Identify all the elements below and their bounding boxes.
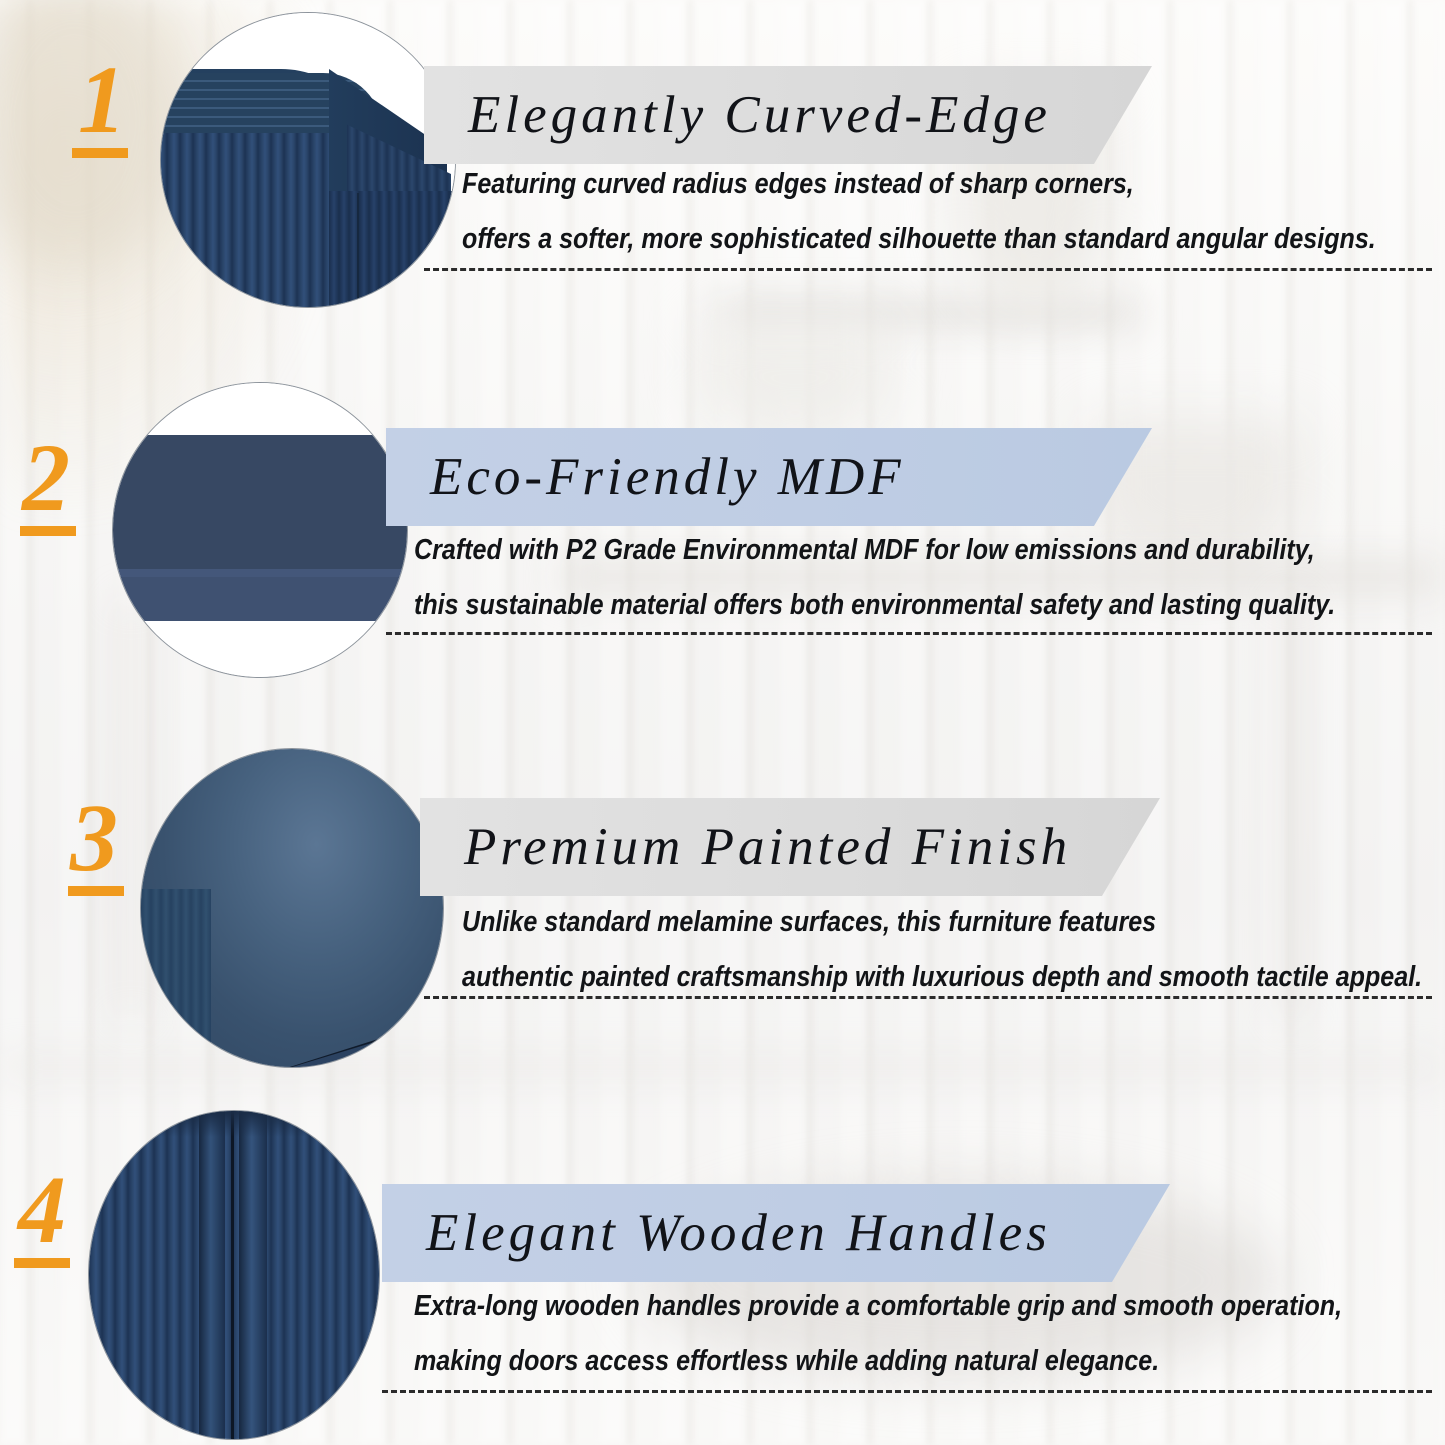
- feature-divider-2: [386, 632, 1432, 635]
- feature-section-2: 2 Eco-Friendly MDF Crafted with P2 Grade…: [0, 368, 1445, 728]
- feature-title-3: Premium Painted Finish: [464, 817, 1071, 877]
- feature-number-underline-3: [68, 886, 124, 896]
- feature-title-4: Elegant Wooden Handles: [426, 1203, 1051, 1263]
- feature-section-4: 4 Elegant Wooden Handles Extra-long wood…: [0, 1102, 1445, 1445]
- feature-divider-4: [382, 1390, 1432, 1393]
- feature-body-2: Crafted with P2 Grade Environmental MDF …: [414, 534, 1335, 644]
- feature-number-1: 1: [78, 52, 126, 148]
- feature-body-line: Crafted with P2 Grade Environmental MDF …: [414, 534, 1335, 567]
- feature-body-line: Featuring curved radius edges instead of…: [462, 168, 1376, 201]
- feature-body-line: making doors access effortless while add…: [414, 1345, 1342, 1378]
- feature-body-line: Extra-long wooden handles provide a comf…: [414, 1290, 1342, 1323]
- feature-number-4: 4: [18, 1162, 66, 1258]
- feature-body-3: Unlike standard melamine surfaces, this …: [462, 906, 1422, 1016]
- feature-title-2: Eco-Friendly MDF: [430, 447, 905, 507]
- feature-number-underline-1: [72, 148, 128, 158]
- feature-image-1: [160, 12, 456, 308]
- feature-section-3: 3 Premium Painted Finish Unlike standard…: [0, 740, 1445, 1100]
- feature-banner-3: Premium Painted Finish: [420, 798, 1160, 896]
- feature-banner-1: Elegantly Curved-Edge: [424, 66, 1152, 164]
- feature-divider-3: [424, 996, 1432, 999]
- feature-number-underline-2: [20, 526, 76, 536]
- feature-divider-1: [424, 268, 1432, 271]
- feature-body-line: offers a softer, more sophisticated silh…: [462, 223, 1376, 256]
- feature-body-1: Featuring curved radius edges instead of…: [462, 168, 1376, 278]
- feature-body-line: Unlike standard melamine surfaces, this …: [462, 906, 1422, 939]
- feature-banner-2: Eco-Friendly MDF: [386, 428, 1152, 526]
- feature-body-line: this sustainable material offers both en…: [414, 589, 1335, 622]
- feature-number-2: 2: [22, 430, 70, 526]
- feature-banner-4: Elegant Wooden Handles: [382, 1184, 1170, 1282]
- feature-number-underline-4: [14, 1258, 70, 1268]
- feature-section-1: 1 Elegantly Curved-Edge Featuring curved…: [0, 0, 1445, 360]
- feature-title-1: Elegantly Curved-Edge: [468, 85, 1051, 145]
- feature-image-3: [140, 748, 444, 1068]
- feature-number-3: 3: [70, 790, 118, 886]
- feature-body-line: authentic painted craftsmanship with lux…: [462, 961, 1422, 994]
- feature-body-4: Extra-long wooden handles provide a comf…: [414, 1290, 1342, 1400]
- feature-image-4: [88, 1110, 380, 1440]
- feature-image-2: [112, 382, 408, 678]
